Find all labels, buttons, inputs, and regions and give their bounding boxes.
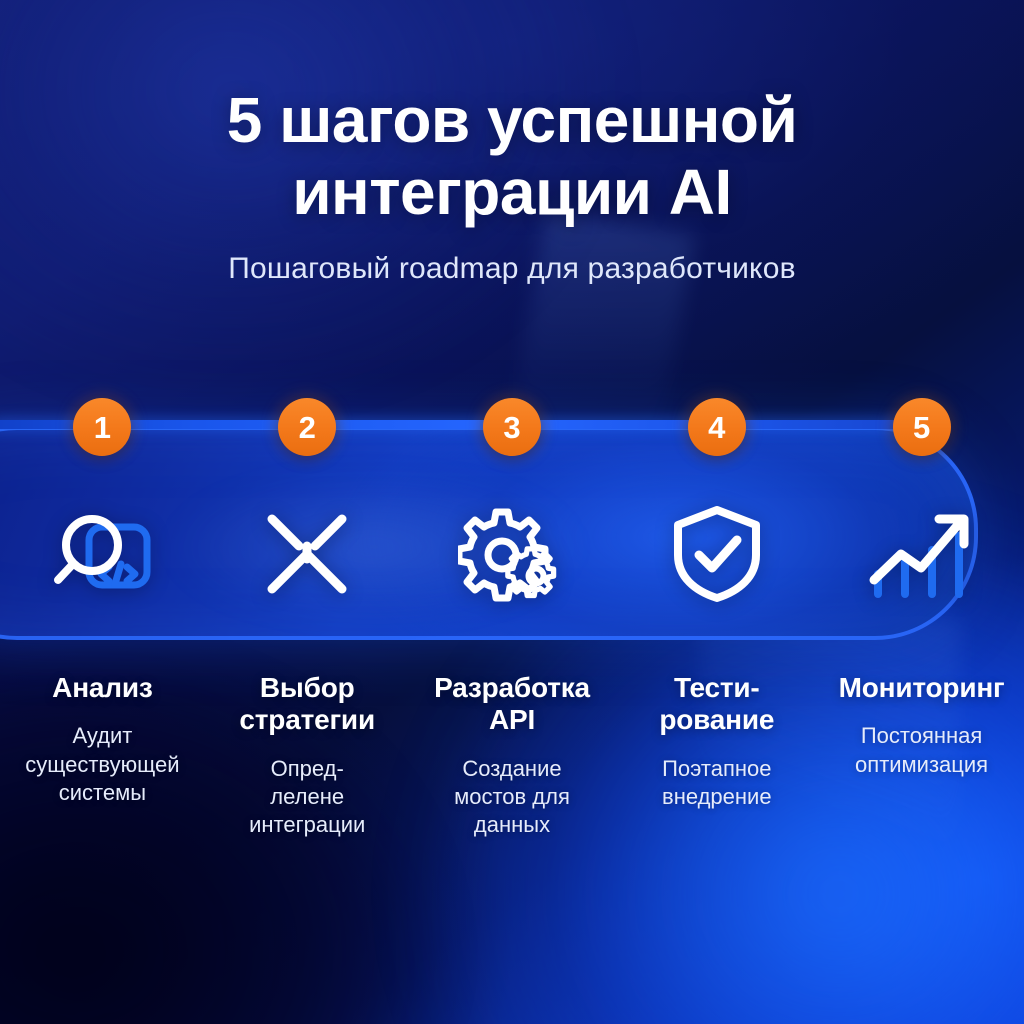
- step-description-4: Поэтапное внедрение: [618, 755, 815, 811]
- step-title-4: Тести- рование: [618, 672, 815, 737]
- step-number-badge-5[interactable]: 5: [893, 398, 951, 456]
- step-title-3: Разработка API: [414, 672, 611, 737]
- step-3[interactable]: 3: [410, 398, 615, 664]
- step-title-2: Выбор стратегии: [209, 672, 406, 737]
- label-column-5: Мониторинг Постоянная оптимизация: [819, 672, 1024, 839]
- step-number-badge-3[interactable]: 3: [483, 398, 541, 456]
- step-4[interactable]: 4: [614, 398, 819, 664]
- step-description-3: Создание мостов для данных: [414, 755, 611, 839]
- step-2[interactable]: 2: [205, 398, 410, 664]
- gears-icon: [452, 502, 572, 606]
- label-column-1: Анализ Аудит существующей системы: [0, 672, 205, 839]
- step-5[interactable]: 5: [819, 398, 1024, 664]
- step-number-2: 2: [299, 412, 316, 443]
- step-description-1: Аудит существующей системы: [4, 722, 201, 806]
- label-column-4: Тести- рование Поэтапное внедрение: [614, 672, 819, 839]
- magnifier-code-icon: [42, 502, 162, 606]
- step-title-5: Мониторинг: [823, 672, 1020, 704]
- step-1[interactable]: 1: [0, 398, 205, 664]
- page-title: 5 шагов успешной интеграции AI: [0, 84, 1024, 229]
- crossroads-x-icon: [247, 502, 367, 606]
- labels-row: Анализ Аудит существующей системы Выбор …: [0, 672, 1024, 839]
- step-title-1: Анализ: [4, 672, 201, 704]
- label-column-3: Разработка API Создание мостов для данны…: [410, 672, 615, 839]
- step-number-4: 4: [708, 412, 725, 443]
- step-description-5: Постоянная оптимизация: [823, 722, 1020, 778]
- page-subtitle: Пошаговый roadmap для разработчиков: [0, 251, 1024, 287]
- step-description-2: Опред- лелене интеграции: [209, 755, 406, 839]
- step-number-badge-4[interactable]: 4: [688, 398, 746, 456]
- step-number-5: 5: [913, 412, 930, 443]
- growth-chart-icon: [862, 502, 982, 606]
- step-number-1: 1: [94, 412, 111, 443]
- step-number-badge-2[interactable]: 2: [278, 398, 336, 456]
- roadmap-stage: 1 2: [0, 398, 1024, 664]
- steps-row: 1 2: [0, 398, 1024, 664]
- step-number-3: 3: [503, 412, 520, 443]
- infographic-canvas: 5 шагов успешной интеграции AI Пошаговый…: [0, 0, 1024, 1024]
- step-number-badge-1[interactable]: 1: [73, 398, 131, 456]
- shield-check-icon: [657, 502, 777, 606]
- label-column-2: Выбор стратегии Опред- лелене интеграции: [205, 672, 410, 839]
- header: 5 шагов успешной интеграции AI Пошаговый…: [0, 84, 1024, 287]
